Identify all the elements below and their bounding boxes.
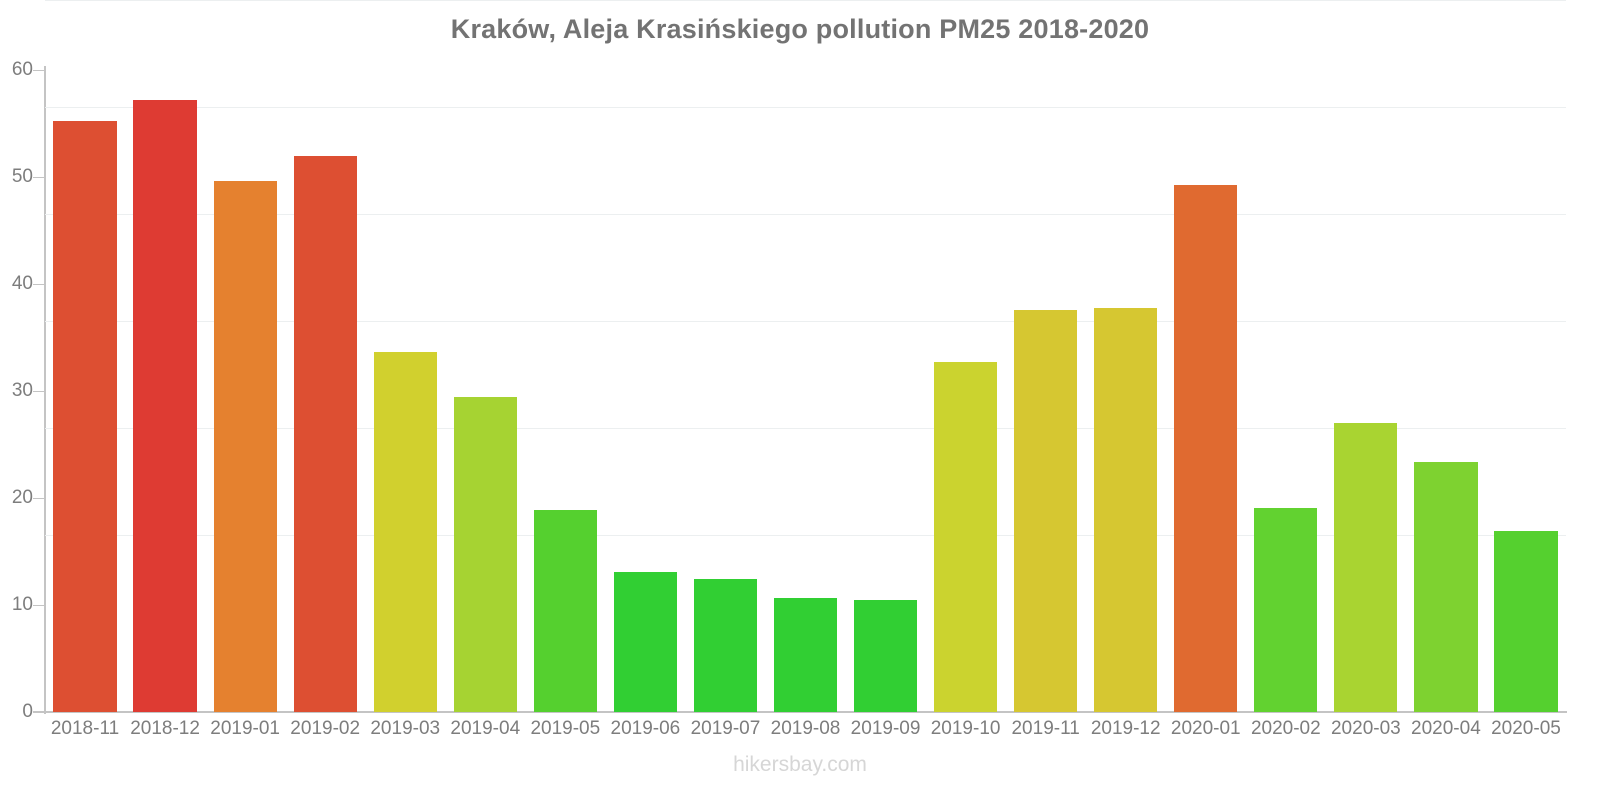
y-axis-tick-label: 30 xyxy=(0,380,33,402)
bar[interactable] xyxy=(614,572,677,712)
y-axis-tick-mark xyxy=(33,498,44,499)
y-axis-tick-mark xyxy=(33,391,44,392)
x-axis-tick-label: 2019-08 xyxy=(771,718,841,740)
bar[interactable] xyxy=(934,362,997,712)
bar[interactable] xyxy=(454,397,517,712)
y-axis-tick-label: 0 xyxy=(0,701,33,723)
x-axis-tick-labels: 2018-112018-122019-012019-022019-032019-… xyxy=(45,718,1566,748)
bar[interactable] xyxy=(1094,308,1157,712)
x-axis-tick-label: 2020-01 xyxy=(1171,718,1241,740)
chart-title: Kraków, Aleja Krasińskiego pollution PM2… xyxy=(0,14,1600,45)
x-axis-tick-label: 2019-05 xyxy=(530,718,600,740)
x-axis-tick-label: 2020-04 xyxy=(1411,718,1481,740)
bar-series xyxy=(45,70,1566,712)
x-axis-tick-label: 2019-07 xyxy=(691,718,761,740)
bar[interactable] xyxy=(294,156,357,712)
bar[interactable] xyxy=(534,510,597,712)
y-axis-tick-mark xyxy=(33,284,44,285)
bar[interactable] xyxy=(1254,508,1317,712)
bar[interactable] xyxy=(774,598,837,712)
x-axis-tick-label: 2019-04 xyxy=(450,718,520,740)
x-axis-tick-label: 2019-02 xyxy=(290,718,360,740)
y-axis-tick-label: 20 xyxy=(0,487,33,509)
bar[interactable] xyxy=(53,121,116,712)
bar[interactable] xyxy=(1174,185,1237,713)
x-axis-tick-label: 2020-02 xyxy=(1251,718,1321,740)
x-axis-tick-label: 2019-11 xyxy=(1011,718,1079,740)
y-axis-tick-label: 50 xyxy=(0,166,33,188)
bar[interactable] xyxy=(133,100,196,712)
x-axis-tick-label: 2018-12 xyxy=(130,718,200,740)
pollution-bar-chart: Kraków, Aleja Krasińskiego pollution PM2… xyxy=(0,0,1600,800)
bar[interactable] xyxy=(1414,462,1477,712)
y-axis-tick-mark xyxy=(33,177,44,178)
x-axis-tick-label: 2018-11 xyxy=(51,718,119,740)
x-axis-tick-label: 2020-05 xyxy=(1491,718,1561,740)
y-axis-tick-label: 10 xyxy=(0,594,33,616)
bar[interactable] xyxy=(1494,531,1557,712)
x-axis-tick-label: 2019-03 xyxy=(370,718,440,740)
x-axis-tick-label: 2019-01 xyxy=(210,718,280,740)
bar[interactable] xyxy=(1334,423,1397,712)
bar[interactable] xyxy=(854,600,917,712)
y-axis-tick-mark xyxy=(33,712,44,713)
bar[interactable] xyxy=(374,352,437,712)
x-axis-tick-label: 2019-12 xyxy=(1091,718,1161,740)
x-axis-tick-label: 2019-06 xyxy=(611,718,681,740)
gridline xyxy=(45,0,1566,1)
y-axis-tick-label: 60 xyxy=(0,59,33,81)
bar[interactable] xyxy=(214,181,277,712)
watermark-label: hikersbay.com xyxy=(0,753,1600,777)
x-axis-tick-label: 2020-03 xyxy=(1331,718,1401,740)
y-axis-tick-label: 40 xyxy=(0,273,33,295)
y-axis-tick-mark xyxy=(33,605,44,606)
y-axis-tick-mark xyxy=(33,70,44,71)
bar[interactable] xyxy=(1014,310,1077,712)
x-axis-tick-label: 2019-09 xyxy=(851,718,921,740)
bar[interactable] xyxy=(694,579,757,712)
x-axis-tick-label: 2019-10 xyxy=(931,718,1001,740)
